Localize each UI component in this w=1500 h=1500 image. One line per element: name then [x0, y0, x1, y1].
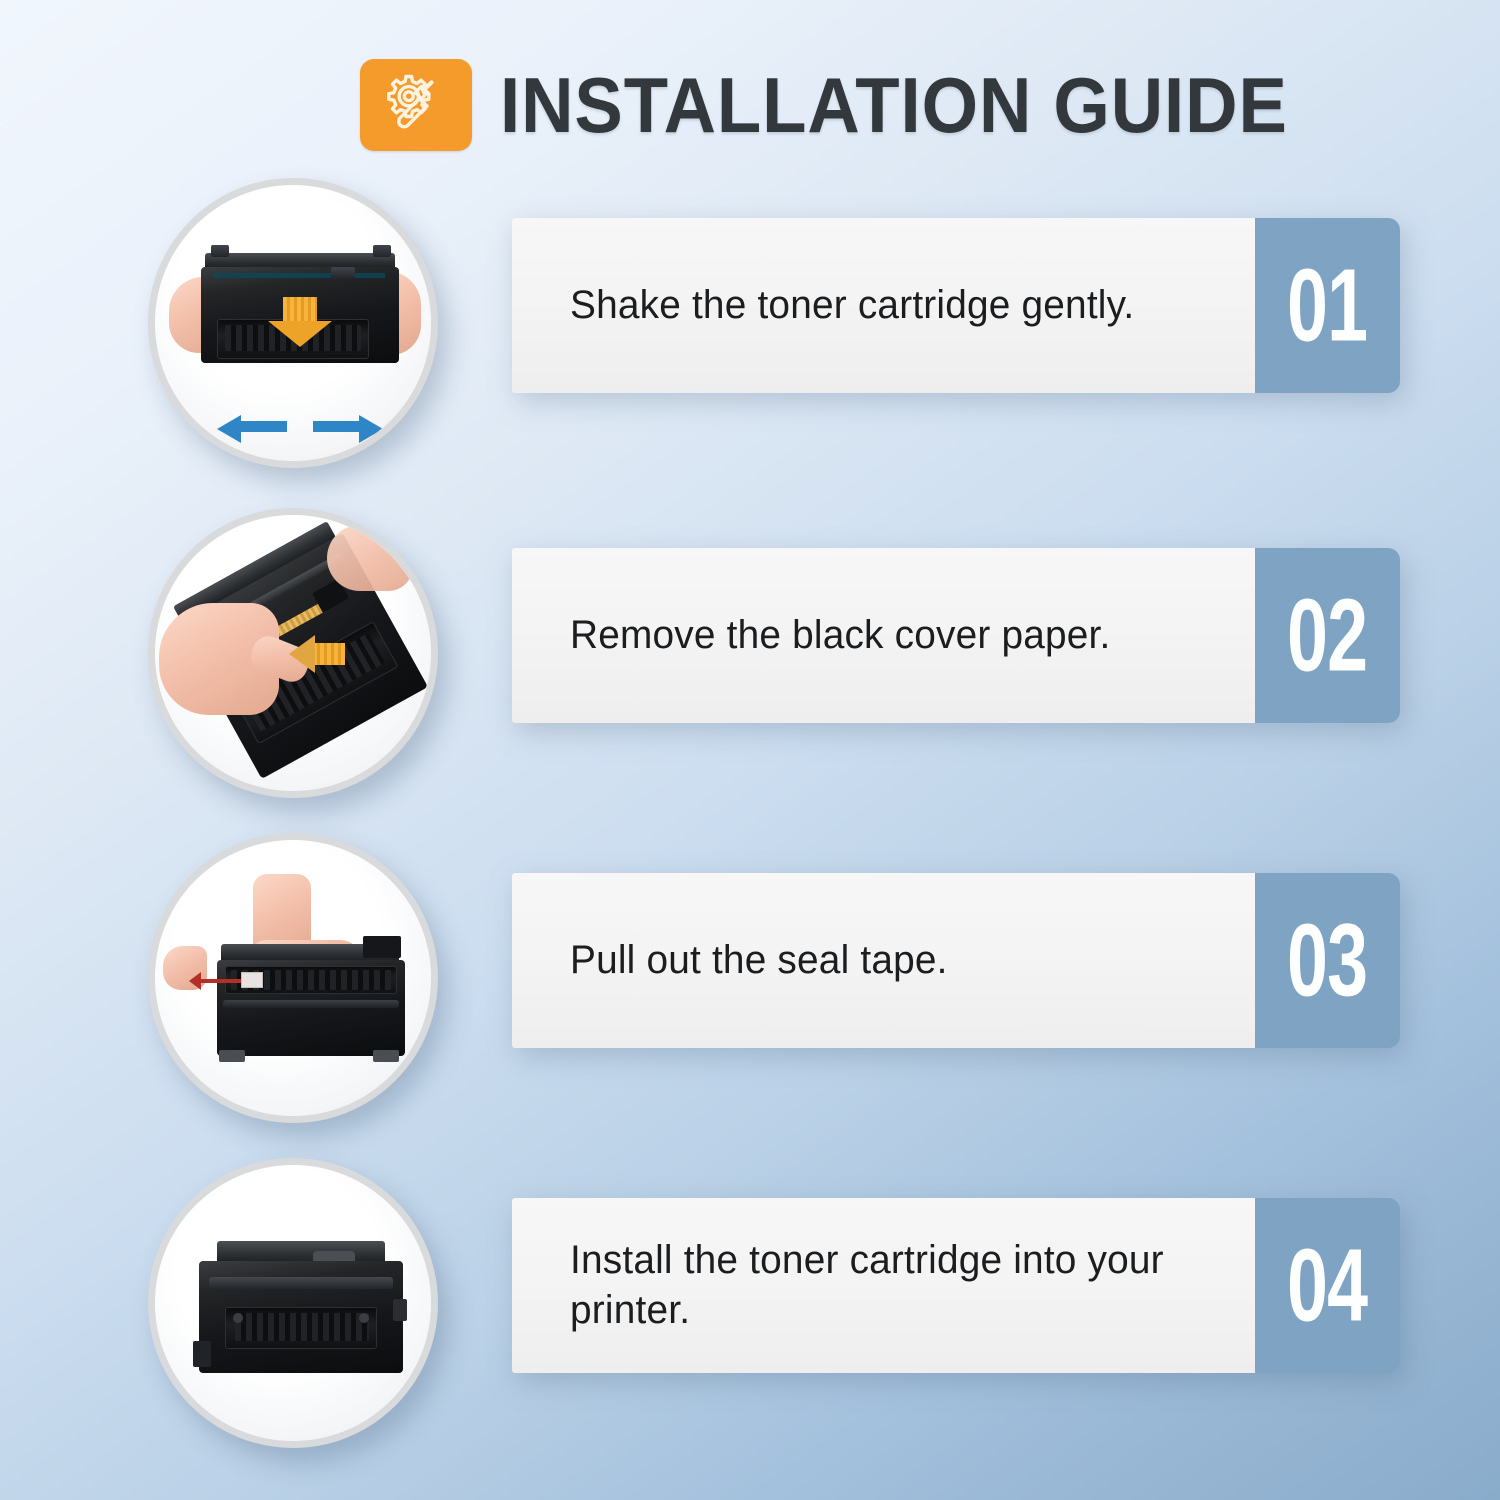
step-text: Remove the black cover paper. [570, 611, 1111, 661]
orange-arrow-head [268, 321, 332, 347]
step-card-body: Remove the black cover paper. [512, 548, 1255, 723]
step-number: 01 [1287, 254, 1367, 357]
red-arrow-shaft [199, 979, 243, 983]
step-text: Pull out the seal tape. [570, 936, 948, 986]
step-card-body: Pull out the seal tape. [512, 873, 1255, 1048]
orange-left-arrow-icon [289, 635, 315, 673]
step-number: 02 [1287, 584, 1367, 687]
orange-arrow-shaft [313, 643, 345, 665]
blue-right-arrow-icon [359, 415, 383, 443]
step-card-body: Shake the toner cartridge gently. [512, 218, 1255, 393]
blue-left-arrow-icon [217, 415, 241, 443]
step-row: Shake the toner cartridge gently. 01 [0, 170, 1500, 490]
blue-left-arrow-shaft [241, 421, 287, 432]
step-number: 04 [1287, 1234, 1367, 1337]
step-text: Shake the toner cartridge gently. [570, 281, 1134, 331]
step-number-panel: 01 [1255, 218, 1400, 393]
step-number: 03 [1287, 909, 1367, 1012]
step-card: Install the toner cartridge into your pr… [512, 1198, 1400, 1373]
step-image-remove-cover-paper [148, 508, 438, 798]
step-image-pull-seal-tape [148, 833, 438, 1123]
upper-hand [327, 525, 413, 591]
step-card: Pull out the seal tape. 03 [512, 873, 1400, 1048]
page-title: INSTALLATION GUIDE [500, 66, 1288, 144]
step-number-panel: 02 [1255, 548, 1400, 723]
step-card-body: Install the toner cartridge into your pr… [512, 1198, 1255, 1373]
step-image-shake-cartridge [148, 178, 438, 468]
blue-right-arrow-shaft [313, 421, 359, 432]
orange-down-arrow-icon [283, 297, 317, 323]
red-left-arrow-icon [189, 972, 201, 990]
step-row: Pull out the seal tape. 03 [0, 825, 1500, 1145]
step-card: Shake the toner cartridge gently. 01 [512, 218, 1400, 393]
step-row: Install the toner cartridge into your pr… [0, 1150, 1500, 1470]
page-header: INSTALLATION GUIDE [360, 55, 1260, 155]
step-number-panel: 04 [1255, 1198, 1400, 1373]
installation-guide-page: INSTALLATION GUIDE [0, 0, 1500, 1500]
step-text: Install the toner cartridge into your pr… [570, 1236, 1209, 1335]
step-card: Remove the black cover paper. 02 [512, 548, 1400, 723]
seal-tape-icon [241, 972, 263, 988]
step-image-toner-cartridge [148, 1158, 438, 1448]
step-row: Remove the black cover paper. 02 [0, 500, 1500, 820]
gear-wrench-icon [360, 59, 472, 151]
step-number-panel: 03 [1255, 873, 1400, 1048]
